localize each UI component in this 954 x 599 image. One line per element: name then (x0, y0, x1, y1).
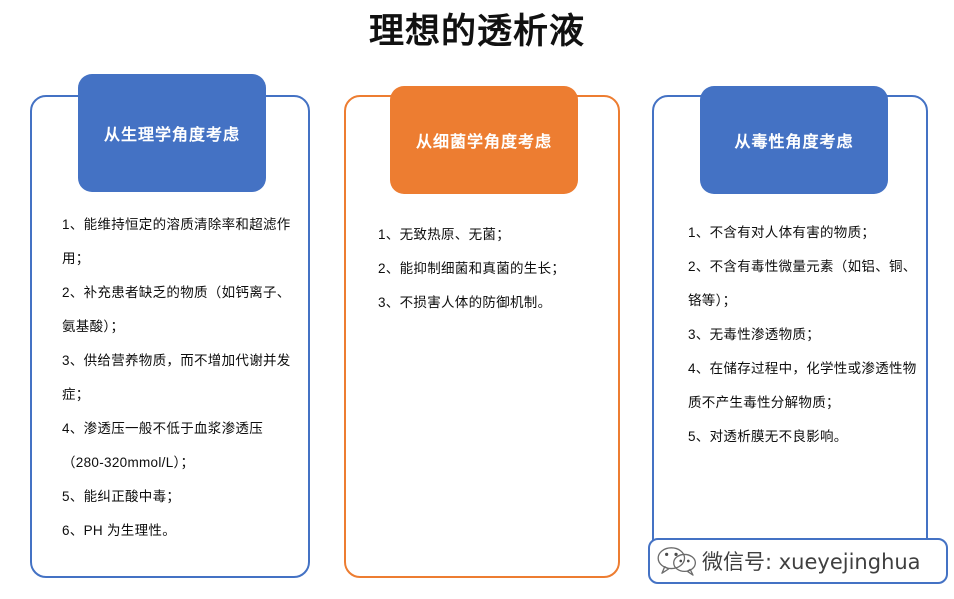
list-item: 1、无致热原、无菌； (378, 218, 610, 252)
list-item: 3、不损害人体的防御机制。 (378, 286, 610, 320)
page-title: 理想的透析液 (0, 8, 954, 56)
list-item: 4、在储存过程中，化学性或渗透性物质不产生毒性分解物质； (688, 352, 920, 420)
list-item: 1、能维持恒定的溶质清除率和超滤作用； (62, 208, 294, 276)
column-header-label: 从生理学角度考虑 (104, 121, 240, 145)
list-item: 1、不含有对人体有害的物质； (688, 216, 920, 250)
column-header-toxicity: 从毒性角度考虑 (700, 86, 888, 194)
column-body-physiology: 1、能维持恒定的溶质清除率和超滤作用； 2、补充患者缺乏的物质（如钙离子、氨基酸… (62, 208, 294, 548)
column-body-bacteriology: 1、无致热原、无菌； 2、能抑制细菌和真菌的生长； 3、不损害人体的防御机制。 (378, 218, 610, 320)
list-item: 5、能纠正酸中毒； (62, 480, 294, 514)
column-body-toxicity: 1、不含有对人体有害的物质； 2、不含有毒性微量元素（如铝、铜、铬等）； 3、无… (688, 216, 920, 454)
column-header-physiology: 从生理学角度考虑 (78, 74, 266, 192)
column-header-bacteriology: 从细菌学角度考虑 (390, 86, 578, 194)
watermark-badge: 微信号: xueyejinghua (648, 538, 948, 584)
list-item: 5、对透析膜无不良影响。 (688, 420, 920, 454)
wechat-icon (656, 545, 698, 577)
list-item: 2、不含有毒性微量元素（如铝、铜、铬等）； (688, 250, 920, 318)
list-item: 3、供给营养物质，而不增加代谢并发症； (62, 344, 294, 412)
watermark-text: 微信号: xueyejinghua (702, 546, 921, 576)
infographic-canvas: 理想的透析液 从生理学角度考虑 从细菌学角度考虑 从毒性角度考虑 1、能维持恒定… (0, 0, 954, 599)
list-item: 2、补充患者缺乏的物质（如钙离子、氨基酸）； (62, 276, 294, 344)
column-header-label: 从毒性角度考虑 (734, 128, 853, 152)
list-item: 3、无毒性渗透物质； (688, 318, 920, 352)
list-item: 6、PH 为生理性。 (62, 514, 294, 548)
column-header-label: 从细菌学角度考虑 (416, 128, 552, 152)
list-item: 4、渗透压一般不低于血浆渗透压（280-320mmol/L）； (62, 412, 294, 480)
list-item: 2、能抑制细菌和真菌的生长； (378, 252, 610, 286)
